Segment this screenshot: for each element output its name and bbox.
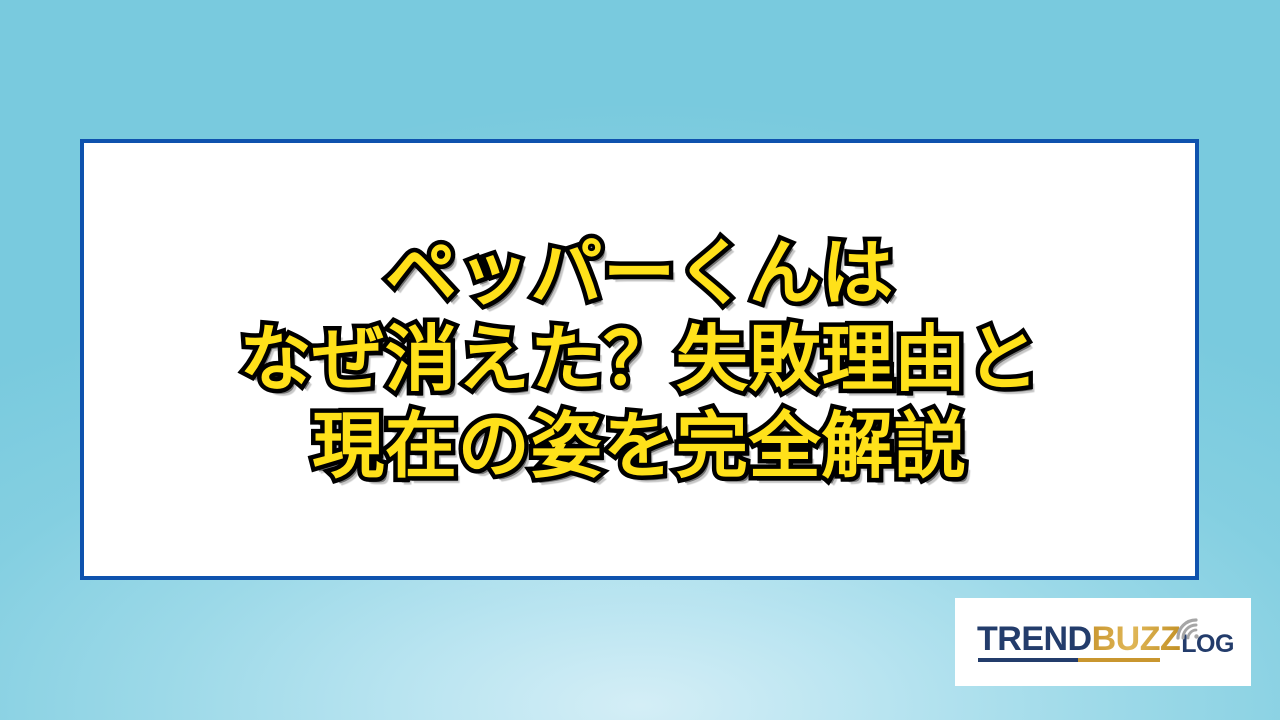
headline-line-2: なぜ消えた？失敗理由と	[240, 319, 1040, 400]
headline-line-1: ペッパーくんは	[385, 233, 894, 314]
logo-word-trend: TREND	[977, 622, 1092, 656]
logo-inner: TREND BUZZ LOG	[977, 614, 1229, 670]
wifi-signal-icon	[1175, 611, 1209, 641]
logo-underline-gold	[1078, 658, 1160, 662]
title-panel: ペッパーくんは なぜ消えた？失敗理由と 現在の姿を完全解説	[80, 139, 1199, 580]
logo-card[interactable]: TREND BUZZ LOG	[955, 598, 1251, 686]
logo-underline-navy	[978, 658, 1078, 662]
logo-underline-bar	[978, 658, 1160, 662]
headline-line-3: 現在の姿を完全解説	[312, 406, 966, 487]
logo-word-buzz: BUZZ	[1092, 622, 1181, 656]
